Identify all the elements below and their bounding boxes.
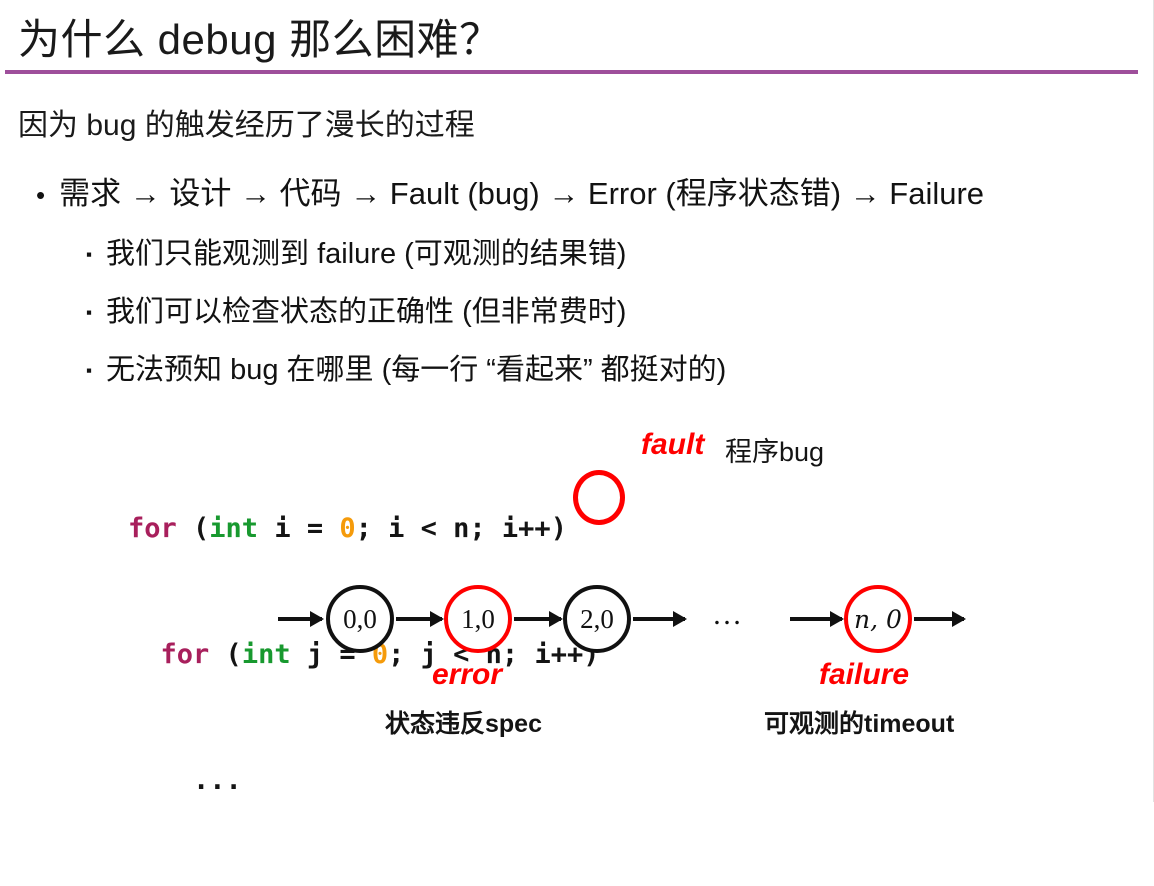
state-node-label: n, 0 [854,607,902,632]
arrow-2-out [633,617,685,621]
bullet-level2-label: 我们可以检查状态的正确性 (但非常费时) [106,288,626,330]
bullet-level2-observe-failure: ▪ 我们只能观测到 failure (可观测的结果错) [86,230,626,272]
red-circle-annotation-icon [573,470,625,525]
bullet-level2-label: 我们只能观测到 failure (可观测的结果错) [106,230,626,272]
state-node-label: 0,0 [343,606,377,633]
page-title: 为什么 debug 那么困难？ [18,6,502,67]
bullet-square-icon: ▪ [86,304,92,321]
failure-caption: 可观测的timeout [764,704,954,740]
arrow-0-to-1 [396,617,442,621]
state-node-label: 1,0 [461,606,495,633]
diagram-ellipsis: … [712,598,745,632]
code-expr-tail: ; i < n; i++) [356,513,567,544]
bullet-level2-check-state: ▪ 我们可以检查状态的正确性 (但非常费时) [86,288,626,330]
bullet-level1: • 需求 → 设计 → 代码 → Fault (bug) → Error (程序… [36,168,984,213]
state-diagram: 0,0 1,0 2,0 … n, 0 error failure 状态违反spe… [0,560,1154,740]
arrow-1-to-2 [514,617,561,621]
slide-canvas: 为什么 debug 那么困难？ 因为 bug 的触发经历了漫长的过程 • 需求 … [0,0,1154,802]
state-node-n-0: n, 0 [844,585,912,653]
title-divider [5,70,1138,74]
code-expr: i = [258,513,339,544]
error-caption: 状态违反spec [385,704,542,740]
state-node-2-0: 2,0 [563,585,631,653]
state-node-label: 2,0 [580,606,614,633]
bullet-level1-label: 需求 → 设计 → 代码 → Fault (bug) → Error (程序状态… [59,168,984,213]
bullet-level2-label: 无法预知 bug 在哪里 (每一行 “看起来” 都挺对的) [106,346,726,388]
failure-label: failure [819,658,909,692]
arrow-entry [278,617,322,621]
code-line-1: for (int i = 0; i < n; i++) [128,508,599,550]
code-punct: ( [177,513,210,544]
bullet-level2-unknown-bug: ▪ 无法预知 bug 在哪里 (每一行 “看起来” 都挺对的) [86,346,726,388]
code-line-3: ... [128,760,599,802]
state-node-0-0: 0,0 [326,585,394,653]
subtitle-text: 因为 bug 的触发经历了漫长的过程 [18,100,475,144]
state-node-1-0: 1,0 [444,585,512,653]
fault-annotation-label: fault [641,428,704,462]
bullet-square-icon: ▪ [86,246,92,263]
arrow-n-out [914,617,964,621]
error-label: error [432,658,502,692]
bullet-square-icon: ▪ [86,362,92,379]
fault-annotation-chinese: 程序bug [725,430,824,469]
code-number: 0 [339,513,355,544]
bullet-dot-icon: • [36,182,45,208]
arrow-to-n [790,617,842,621]
code-keyword: for [128,513,177,544]
code-type: int [209,513,258,544]
